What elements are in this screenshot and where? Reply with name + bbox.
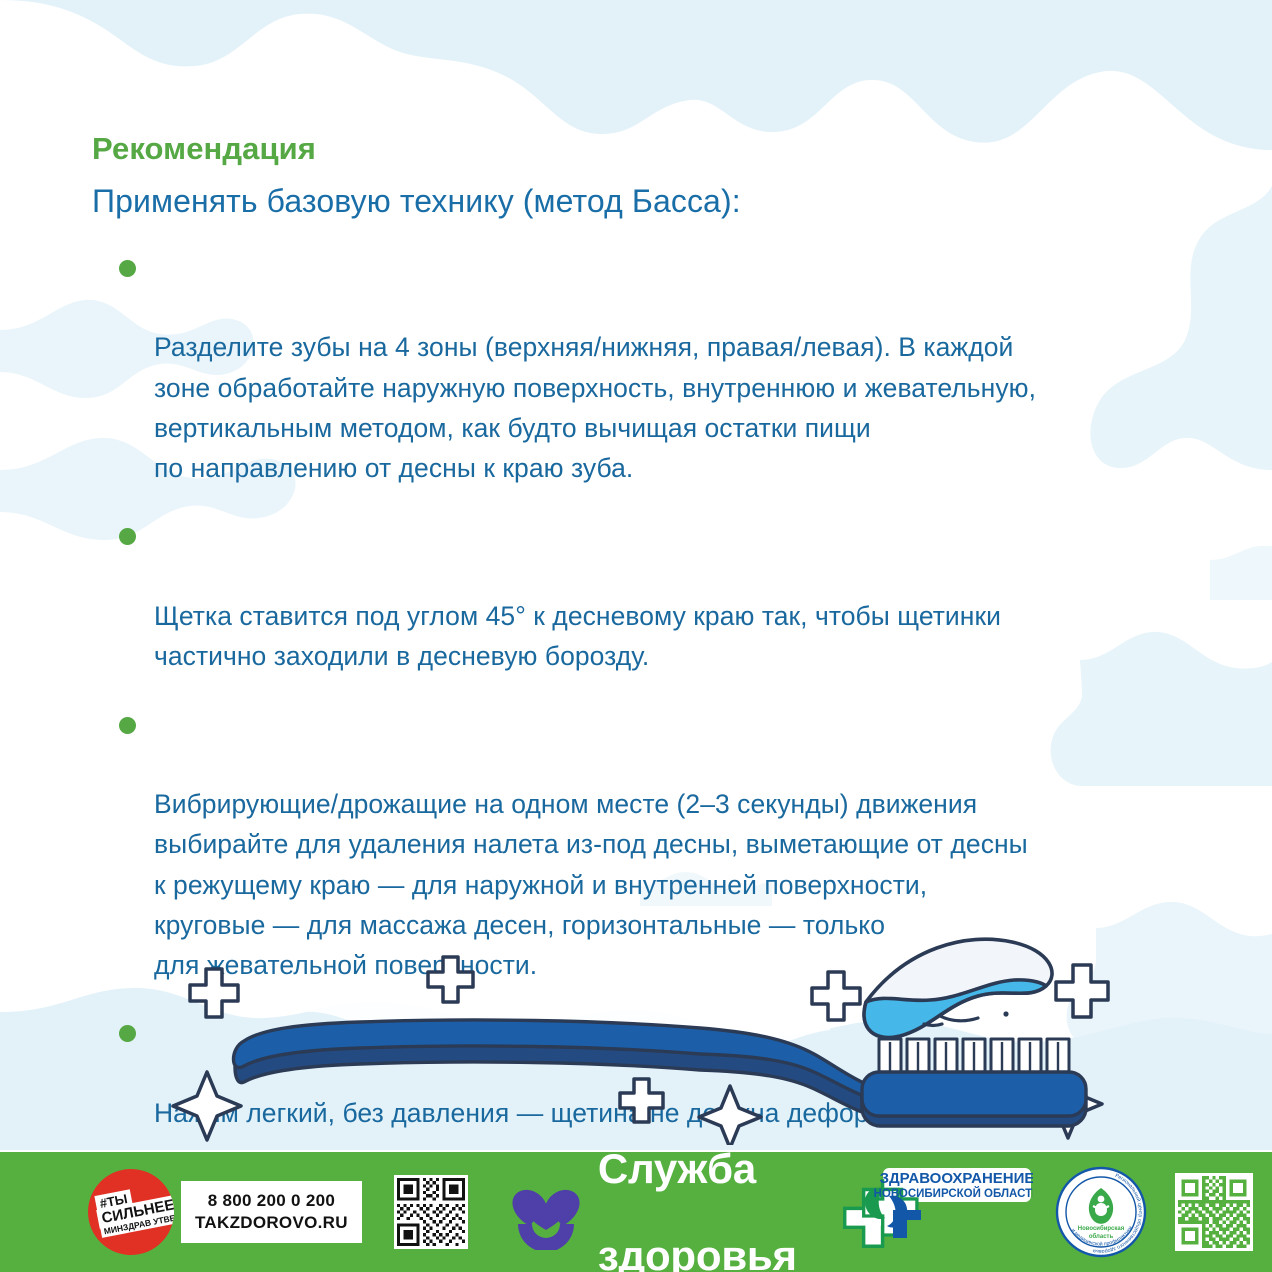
ty-silnee-badge: #ТЫ СИЛЬНЕЕ МИНЗДРАВ УТВЕРЖДАЕТ. xyxy=(88,1169,174,1255)
bullet-dot-icon xyxy=(119,528,136,545)
qr-code-right-slot xyxy=(1147,1152,1253,1272)
content-area: Рекомендация Применять базовую технику (… xyxy=(0,0,1272,1150)
bullet-dot-icon xyxy=(119,717,136,734)
bullet-text: Нажим легкий, без давления — щетина не д… xyxy=(154,1098,1020,1128)
qr-code-icon[interactable] xyxy=(1175,1173,1253,1251)
list-item: Щетка ставится под углом 45° к десневому… xyxy=(92,515,1202,676)
seal-center-line-1: Новосибирская xyxy=(1078,1225,1125,1232)
nso-line-1: ЗДРАВООХРАНЕНИЕ xyxy=(879,1170,1032,1187)
nso-healthcare-logo-icon: ЗДРАВООХРАНЕНИЕ НОВОСИБИРСКОЙ ОБЛАСТИ xyxy=(843,1166,1033,1258)
seal-center-line-2: область xyxy=(1089,1233,1114,1240)
nso-line-2: НОВОСИБИРСКОЙ ОБЛАСТИ xyxy=(874,1187,1033,1200)
list-item: Вибрирующие/дрожащие на одном месте (2–3… xyxy=(92,704,1202,986)
bullet-text: Разделите зубы на 4 зоны (верхняя/нижняя… xyxy=(154,332,1036,483)
qr-code-icon[interactable] xyxy=(394,1175,468,1249)
takzdorovo-contact: 8 800 200 0 200 TAKZDOROVO.RU xyxy=(181,1181,362,1243)
heart-smile-logo-icon xyxy=(510,1174,582,1250)
bullet-dot-icon xyxy=(119,260,136,277)
bullet-text: Вибрирующие/дрожащие на одном месте (2–3… xyxy=(154,789,1028,980)
sluzhba-line-2: здоровья xyxy=(598,1234,797,1272)
sluzhba-zdorovya-block: Служба здоровья xyxy=(510,1152,797,1272)
list-item: Разделите зубы на 4 зоны (верхняя/нижняя… xyxy=(92,247,1202,489)
page-title: Применять базовую технику (метод Басса): xyxy=(92,183,1202,220)
recommendation-kicker: Рекомендация xyxy=(92,132,1202,166)
regional-center-seal-icon: Региональный центр общественного здоровь… xyxy=(1055,1166,1147,1258)
sluzhba-zdorovya-label: Служба здоровья xyxy=(598,1103,797,1272)
regional-center-seal-block: Региональный центр общественного здоровь… xyxy=(1055,1152,1147,1272)
bullet-text: Щетка ставится под углом 45° к десневому… xyxy=(154,601,1001,671)
bullet-dot-icon xyxy=(119,1025,136,1042)
takzdorovo-site: TAKZDOROVO.RU xyxy=(195,1212,348,1234)
hotline-phone: 8 800 200 0 200 xyxy=(195,1190,348,1212)
poster-root: Рекомендация Применять базовую технику (… xyxy=(0,0,1272,1272)
footer-bar: #ТЫ СИЛЬНЕЕ МИНЗДРАВ УТВЕРЖДАЕТ. 8 800 2… xyxy=(0,1152,1272,1272)
sluzhba-line-1: Служба xyxy=(598,1147,797,1191)
nso-healthcare-block: ЗДРАВООХРАНЕНИЕ НОВОСИБИРСКОЙ ОБЛАСТИ ЗД… xyxy=(843,1152,1033,1272)
takzdorovo-block[interactable]: #ТЫ СИЛЬНЕЕ МИНЗДРАВ УТВЕРЖДАЕТ. 8 800 2… xyxy=(88,1152,362,1272)
qr-code-left-slot xyxy=(362,1152,468,1272)
